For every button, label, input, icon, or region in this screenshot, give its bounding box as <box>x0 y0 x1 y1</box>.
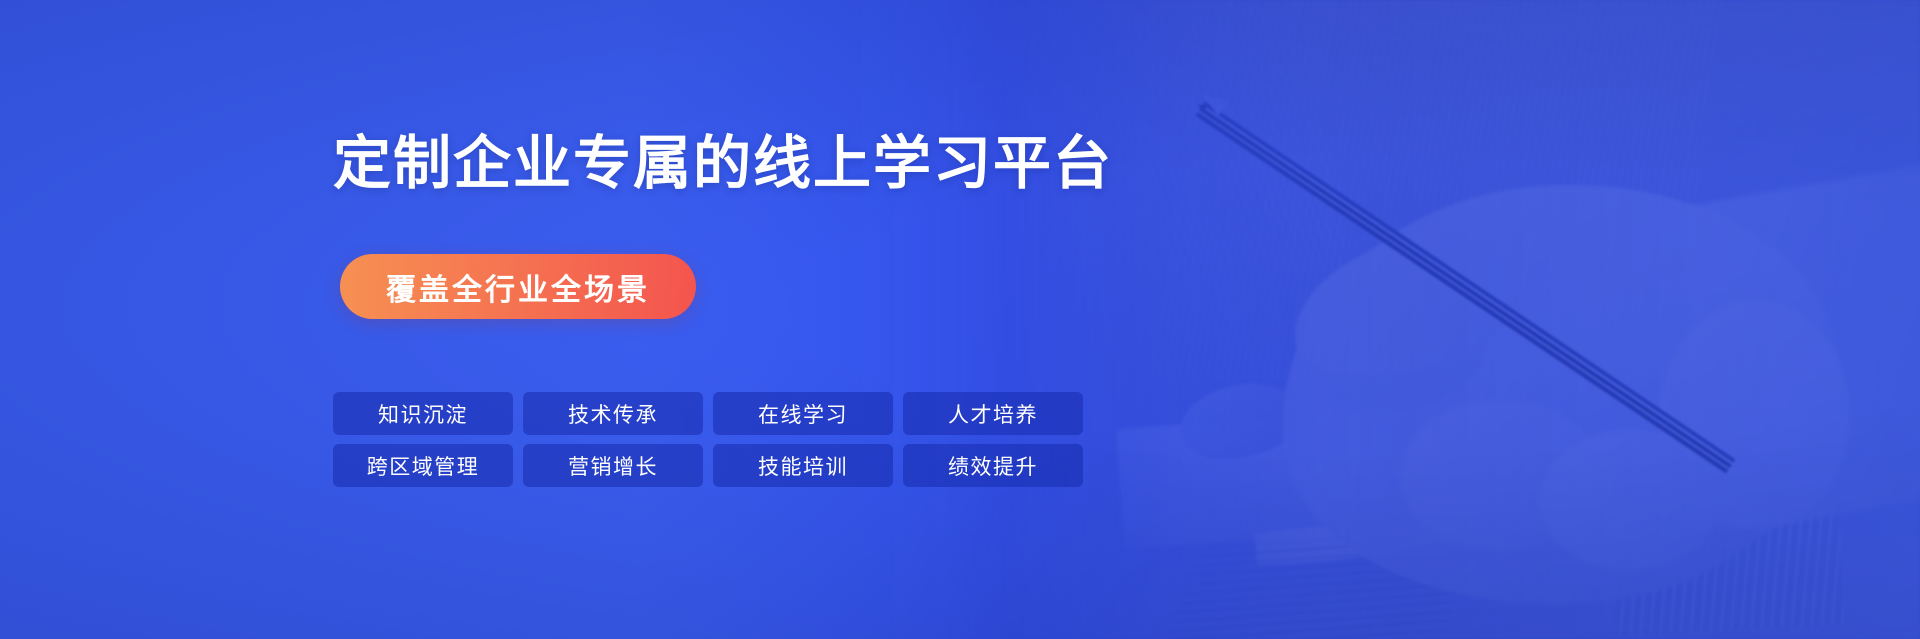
feature-tag-label: 跨区域管理 <box>367 451 480 481</box>
coverage-pill-button[interactable]: 覆盖全行业全场景 <box>340 254 696 319</box>
feature-tag-label: 知识沉淀 <box>378 399 468 429</box>
feature-tag[interactable]: 绩效提升 <box>903 444 1083 487</box>
banner-headline: 定制企业专属的线上学习平台 <box>333 133 1113 196</box>
feature-tag[interactable]: 人才培养 <box>903 392 1083 435</box>
feature-tag[interactable]: 知识沉淀 <box>333 392 513 435</box>
feature-tag-label: 在线学习 <box>758 399 848 429</box>
feature-tag-grid: 知识沉淀 技术传承 在线学习 人才培养 跨区域管理 营销增长 <box>333 392 1083 487</box>
hero-banner: 定制企业专属的线上学习平台 覆盖全行业全场景 知识沉淀 技术传承 在线学习 人才… <box>0 0 1920 639</box>
banner-content: 定制企业专属的线上学习平台 覆盖全行业全场景 知识沉淀 技术传承 在线学习 人才… <box>333 0 1433 639</box>
feature-tag[interactable]: 在线学习 <box>713 392 893 435</box>
feature-tag[interactable]: 营销增长 <box>523 444 703 487</box>
feature-tag[interactable]: 跨区域管理 <box>333 444 513 487</box>
feature-tag-label: 营销增长 <box>568 451 658 481</box>
coverage-pill-label: 覆盖全行业全场景 <box>386 265 650 309</box>
feature-tag[interactable]: 技能培训 <box>713 444 893 487</box>
feature-tag-label: 绩效提升 <box>948 451 1038 481</box>
feature-tag-label: 技能培训 <box>758 451 848 481</box>
feature-tag-label: 技术传承 <box>568 399 658 429</box>
feature-tag[interactable]: 技术传承 <box>523 392 703 435</box>
feature-tag-row-2: 跨区域管理 营销增长 技能培训 绩效提升 <box>333 444 1083 487</box>
feature-tag-label: 人才培养 <box>948 399 1038 429</box>
feature-tag-row-1: 知识沉淀 技术传承 在线学习 人才培养 <box>333 392 1083 435</box>
